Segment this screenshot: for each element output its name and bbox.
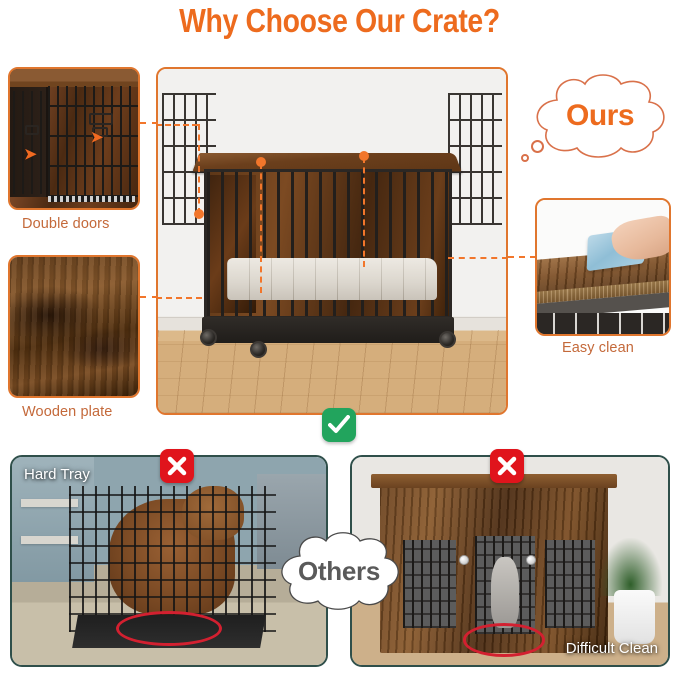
connector-dash-right	[448, 257, 508, 259]
caster-wheel-rear-left	[200, 329, 217, 346]
cabinet-knob-right	[526, 555, 536, 565]
connector-stub-doors	[140, 122, 158, 124]
page-title: Why Choose Our Crate?	[48, 2, 632, 40]
connector-dash-vertical-mid	[260, 163, 262, 293]
feature-panel-wooden-plate	[8, 255, 140, 398]
plant-pot	[614, 590, 655, 644]
callout-dot-top	[256, 157, 266, 167]
others-bubble-text: Others	[272, 528, 406, 614]
highlight-ellipse-cabinet	[463, 623, 545, 656]
connector-stub-clean	[508, 256, 536, 258]
feature-label-easy-clean: Easy clean	[562, 340, 634, 356]
connector-dash-vertical-left	[198, 124, 200, 214]
cross-badge-left	[160, 449, 194, 483]
room-background	[158, 69, 506, 413]
door-latch-right	[89, 113, 113, 125]
caster-wheel-front-left	[250, 341, 267, 358]
side-door-bars	[13, 91, 46, 194]
double-doors-photo: ➤ ➤	[10, 69, 138, 208]
crate-base-frame	[202, 317, 454, 343]
feature-label-double-doors: Double doors	[22, 216, 109, 232]
door-latch-left	[25, 125, 39, 135]
connector-dash-vertical-right	[363, 157, 365, 267]
main-product-photo	[156, 67, 508, 415]
wooden-plate-texture	[10, 257, 138, 396]
caster-wheel-rear-right	[439, 331, 456, 348]
crate-bars-below	[535, 313, 671, 334]
bubble-tail-dot-large	[531, 140, 544, 153]
comparison-label-hard-tray: Hard Tray	[24, 466, 90, 483]
crate-body	[204, 169, 452, 319]
cross-icon	[167, 456, 187, 476]
ours-bubble-text: Ours	[527, 70, 673, 162]
crate-bottom-trim	[48, 196, 135, 202]
cabinet-mesh-left	[403, 540, 457, 627]
cross-badge-right	[490, 449, 524, 483]
dog-cushion	[227, 258, 437, 300]
callout-dot-top-right	[359, 151, 369, 161]
dog-crate-furniture	[204, 151, 452, 341]
bubble-tail-dot-small	[521, 154, 529, 162]
arrow-icon-left: ➤	[24, 147, 37, 162]
ours-thought-bubble: Ours	[527, 70, 673, 162]
infographic-page: Why Choose Our Crate? ➤ ➤ Double doors W…	[0, 0, 679, 675]
check-icon	[328, 415, 350, 435]
connector-dash-left-bottom	[156, 297, 202, 299]
arrow-icon-right: ➤	[91, 130, 104, 145]
connector-stub-wood	[140, 296, 158, 298]
wire-crate-mesh	[69, 486, 276, 632]
others-thought-bubble: Others	[272, 528, 406, 614]
cabinet-mesh-right	[545, 540, 596, 627]
plant-leaves	[599, 538, 662, 596]
comparison-label-difficult-clean: Difficult Clean	[566, 640, 658, 657]
easy-clean-photo	[537, 200, 669, 334]
feature-panel-easy-clean	[535, 198, 671, 336]
feature-panel-double-doors: ➤ ➤	[8, 67, 140, 210]
feature-label-wooden-plate: Wooden plate	[22, 404, 112, 420]
callout-dot-side-panel	[194, 209, 204, 219]
cross-icon	[497, 456, 517, 476]
dog-inside-cabinet	[491, 557, 519, 628]
connector-dash-left-top	[156, 124, 198, 126]
check-badge	[322, 408, 356, 442]
